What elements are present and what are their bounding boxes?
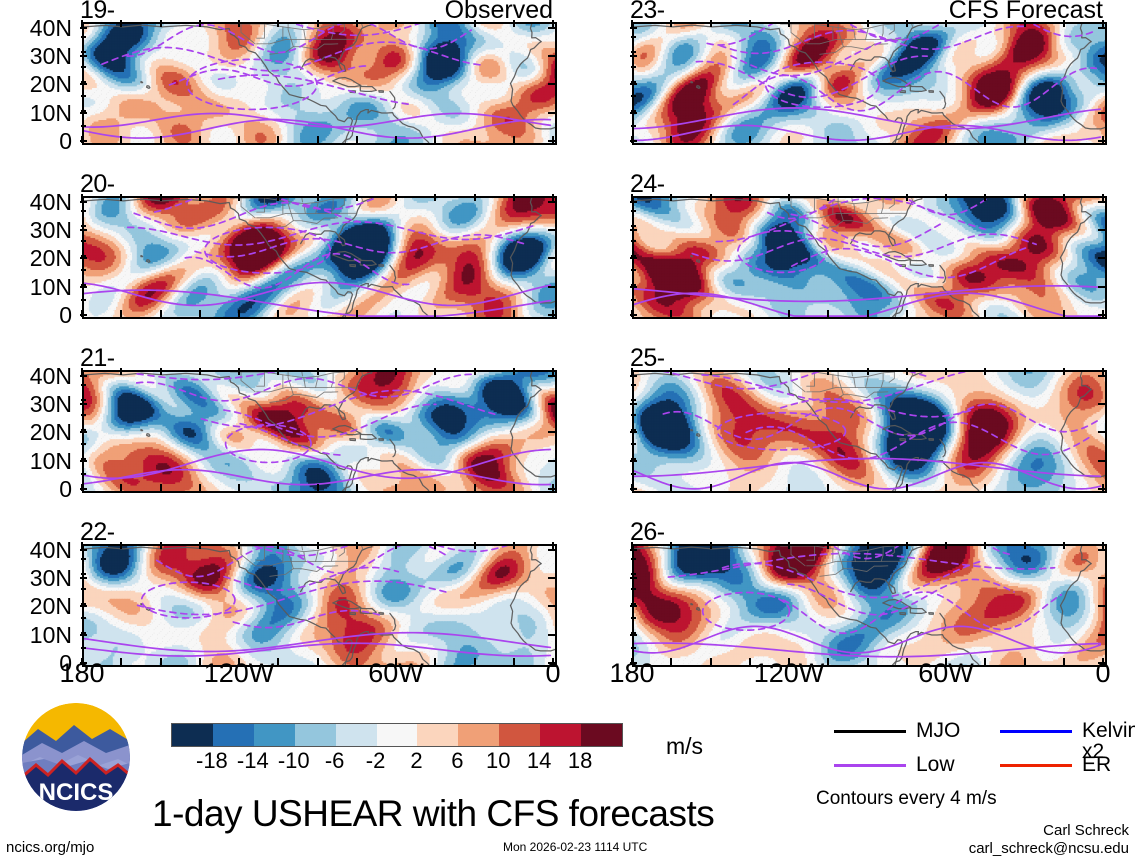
x-tick-top <box>120 542 122 549</box>
x-tick-top <box>1024 20 1026 27</box>
y-tick-minor-left <box>631 603 636 605</box>
x-tick-bottom <box>395 136 397 143</box>
y-tick-left <box>80 549 87 551</box>
legend-label: ER <box>1082 754 1111 775</box>
x-tick-top <box>1024 194 1026 201</box>
y-tick-right <box>548 549 555 551</box>
map-plot-area <box>82 196 557 319</box>
x-tick-top <box>434 542 436 549</box>
x-tick-bottom <box>434 310 436 317</box>
x-tick-top <box>867 368 869 375</box>
x-tick-bottom <box>984 310 986 317</box>
y-tick-right <box>548 403 555 405</box>
y-tick-right <box>1098 488 1105 490</box>
x-tick-top <box>395 542 397 549</box>
x-tick-bottom <box>906 136 908 143</box>
x-tick-bottom <box>317 310 319 317</box>
x-tick-top <box>317 368 319 375</box>
y-tick-minor-left <box>81 81 86 83</box>
y-tick-minor-left <box>631 588 636 590</box>
y-tick-minor-left <box>81 632 86 634</box>
y-tick-left <box>80 83 87 85</box>
ncics-logo: NCICS <box>22 703 130 811</box>
y-tick-minor-left <box>81 95 86 97</box>
x-tick-bottom <box>945 136 947 143</box>
y-axis-tick-label: 10N <box>0 450 72 473</box>
x-tick-bottom <box>749 484 751 491</box>
colorbar-swatch <box>540 724 581 746</box>
x-tick-bottom <box>1024 136 1026 143</box>
x-tick-top <box>474 542 476 549</box>
x-tick-top <box>356 20 358 27</box>
x-axis-tick-label: 180 <box>22 660 142 687</box>
x-tick-top <box>277 542 279 549</box>
x-tick-top <box>395 20 397 27</box>
y-tick-minor-left <box>81 225 86 227</box>
x-tick-top <box>160 20 162 27</box>
x-tick-top <box>1063 194 1065 201</box>
x-tick-bottom <box>474 658 476 665</box>
y-axis-tick-label: 40N <box>0 191 72 214</box>
x-tick-top <box>827 542 829 549</box>
map-plot-area <box>632 196 1107 319</box>
x-tick-top <box>238 542 240 549</box>
x-tick-bottom <box>710 310 712 317</box>
y-tick-left <box>630 314 637 316</box>
colorbar-swatch <box>581 724 622 746</box>
x-tick-top <box>1063 368 1065 375</box>
y-tick-right <box>548 27 555 29</box>
x-tick-top <box>710 542 712 549</box>
x-tick-bottom <box>356 484 358 491</box>
y-tick-right <box>548 431 555 433</box>
y-tick-minor-left <box>631 225 636 227</box>
y-tick-left <box>80 140 87 142</box>
x-tick-top <box>670 542 672 549</box>
y-axis-tick-label: 20N <box>0 595 72 618</box>
x-axis-tick-label: 120W <box>729 660 849 687</box>
map-plot-area <box>632 370 1107 493</box>
x-tick-top <box>238 194 240 201</box>
x-tick-top <box>356 368 358 375</box>
y-tick-right <box>1098 201 1105 203</box>
x-tick-bottom <box>160 310 162 317</box>
x-tick-bottom <box>1024 484 1026 491</box>
x-tick-bottom <box>199 484 201 491</box>
x-tick-bottom <box>984 484 986 491</box>
map-plot-area <box>632 22 1107 145</box>
x-tick-bottom <box>199 136 201 143</box>
colorbar-swatch <box>254 724 295 746</box>
y-tick-left <box>80 55 87 57</box>
y-tick-left <box>630 403 637 405</box>
map-shading-canvas <box>84 546 555 665</box>
y-tick-left <box>630 549 637 551</box>
y-tick-right <box>1098 549 1105 551</box>
x-tick-top <box>317 194 319 201</box>
y-tick-right <box>548 314 555 316</box>
legend-label: MJO <box>916 720 960 741</box>
x-tick-top <box>434 368 436 375</box>
x-tick-top <box>120 20 122 27</box>
x-tick-top <box>788 194 790 201</box>
x-tick-bottom <box>160 136 162 143</box>
map-shading-canvas <box>634 546 1105 665</box>
x-tick-bottom <box>788 484 790 491</box>
y-tick-right <box>1098 375 1105 377</box>
x-tick-bottom <box>277 484 279 491</box>
y-tick-minor-left <box>631 384 636 386</box>
y-tick-right <box>548 83 555 85</box>
x-tick-bottom <box>749 310 751 317</box>
y-tick-minor-left <box>631 269 636 271</box>
y-tick-left <box>630 488 637 490</box>
y-tick-minor-left <box>631 284 636 286</box>
x-tick-bottom <box>120 136 122 143</box>
y-axis-tick-label: 0 <box>0 304 72 327</box>
x-tick-bottom <box>277 136 279 143</box>
y-tick-right <box>548 488 555 490</box>
x-tick-bottom <box>513 484 515 491</box>
x-tick-bottom <box>160 658 162 665</box>
x-tick-bottom <box>984 136 986 143</box>
y-tick-right <box>1098 83 1105 85</box>
ncics-logo-graphic: NCICS <box>22 703 130 811</box>
x-tick-bottom <box>867 484 869 491</box>
x-tick-top <box>945 20 947 27</box>
y-tick-right <box>1098 229 1105 231</box>
x-tick-top <box>749 368 751 375</box>
y-tick-minor-left <box>631 36 636 38</box>
y-tick-right <box>1098 460 1105 462</box>
x-tick-top <box>160 368 162 375</box>
x-tick-bottom <box>1063 310 1065 317</box>
x-tick-bottom <box>1063 484 1065 491</box>
y-axis-tick-label: 20N <box>0 421 72 444</box>
y-tick-minor-left <box>81 458 86 460</box>
x-tick-top <box>474 194 476 201</box>
y-axis-tick-label: 20N <box>0 247 72 270</box>
y-tick-right <box>1098 314 1105 316</box>
y-tick-left <box>80 257 87 259</box>
x-tick-bottom <box>670 484 672 491</box>
x-tick-top <box>945 368 947 375</box>
y-tick-right <box>548 375 555 377</box>
y-tick-minor-left <box>81 473 86 475</box>
x-tick-top <box>984 20 986 27</box>
x-tick-top <box>395 194 397 201</box>
x-tick-bottom <box>356 310 358 317</box>
x-tick-top <box>317 542 319 549</box>
y-tick-right <box>548 460 555 462</box>
y-tick-minor-left <box>631 617 636 619</box>
y-tick-right <box>1098 286 1105 288</box>
x-tick-bottom <box>356 136 358 143</box>
colorbar-swatch <box>499 724 540 746</box>
y-axis-tick-label: 40N <box>0 365 72 388</box>
x-tick-bottom <box>827 136 829 143</box>
x-tick-top <box>827 194 829 201</box>
x-tick-bottom <box>434 484 436 491</box>
y-tick-minor-left <box>631 51 636 53</box>
y-axis-tick-label: 10N <box>0 276 72 299</box>
author-email[interactable]: carl_schreck@ncsu.edu <box>929 840 1129 857</box>
x-tick-bottom <box>1063 136 1065 143</box>
x-tick-top <box>906 20 908 27</box>
x-tick-top <box>277 194 279 201</box>
y-tick-left <box>630 375 637 377</box>
x-tick-bottom <box>513 310 515 317</box>
x-tick-bottom <box>238 310 240 317</box>
y-tick-minor-left <box>631 632 636 634</box>
x-tick-top <box>356 194 358 201</box>
x-tick-top <box>788 20 790 27</box>
colorbar-swatch <box>172 724 213 746</box>
x-tick-top <box>906 194 908 201</box>
x-tick-top <box>1024 368 1026 375</box>
y-tick-right <box>1098 634 1105 636</box>
x-tick-top <box>199 542 201 549</box>
x-tick-top <box>788 368 790 375</box>
x-tick-top <box>867 194 869 201</box>
y-tick-minor-left <box>81 603 86 605</box>
y-tick-minor-left <box>631 414 636 416</box>
legend-line-swatch <box>1000 730 1072 733</box>
x-tick-top <box>395 368 397 375</box>
y-tick-right <box>548 605 555 607</box>
site-url[interactable]: ncics.org/mjo <box>6 840 94 855</box>
x-tick-bottom <box>945 484 947 491</box>
x-tick-top <box>788 542 790 549</box>
y-axis-tick-label: 30N <box>0 393 72 416</box>
x-tick-top <box>906 368 908 375</box>
y-tick-left <box>80 375 87 377</box>
y-tick-left <box>630 257 637 259</box>
x-tick-bottom <box>434 136 436 143</box>
x-tick-top <box>356 542 358 549</box>
x-tick-bottom <box>827 484 829 491</box>
x-tick-top <box>867 20 869 27</box>
y-tick-minor-left <box>631 81 636 83</box>
y-tick-right <box>1098 577 1105 579</box>
x-tick-top <box>710 368 712 375</box>
x-tick-top <box>867 542 869 549</box>
y-tick-right <box>1098 112 1105 114</box>
x-tick-top <box>749 20 751 27</box>
x-tick-top <box>827 368 829 375</box>
y-axis-tick-label: 40N <box>0 539 72 562</box>
map-shading-canvas <box>84 24 555 143</box>
map-plot-area <box>632 544 1107 667</box>
x-axis-tick-label: 60W <box>336 660 456 687</box>
x-tick-bottom <box>474 310 476 317</box>
y-axis-tick-label: 0 <box>0 130 72 153</box>
y-tick-left <box>80 605 87 607</box>
x-tick-top <box>710 20 712 27</box>
x-tick-top <box>984 542 986 549</box>
y-tick-minor-left <box>631 647 636 649</box>
logo-text: NCICS <box>39 779 114 806</box>
y-axis-tick-label: 30N <box>0 219 72 242</box>
y-tick-right <box>1098 403 1105 405</box>
x-tick-top <box>120 194 122 201</box>
y-tick-right <box>1098 140 1105 142</box>
x-tick-bottom <box>788 136 790 143</box>
x-tick-top <box>474 368 476 375</box>
x-tick-top <box>670 368 672 375</box>
map-shading-canvas <box>634 372 1105 491</box>
x-tick-top <box>199 368 201 375</box>
y-tick-minor-left <box>81 617 86 619</box>
y-tick-right <box>1098 431 1105 433</box>
x-tick-bottom <box>160 484 162 491</box>
legend-line-swatch <box>834 730 906 733</box>
y-tick-minor-left <box>81 429 86 431</box>
y-tick-minor-left <box>631 429 636 431</box>
colorbar-swatch <box>377 724 418 746</box>
x-tick-top <box>827 20 829 27</box>
y-axis-tick-label: 30N <box>0 45 72 68</box>
x-tick-bottom <box>710 136 712 143</box>
y-tick-left <box>80 403 87 405</box>
contour-interval-note: Contours every 4 m/s <box>816 789 997 808</box>
y-tick-minor-left <box>631 210 636 212</box>
y-axis-tick-label: 40N <box>0 17 72 40</box>
x-tick-top <box>238 368 240 375</box>
x-tick-top <box>749 542 751 549</box>
x-tick-bottom <box>277 310 279 317</box>
x-tick-bottom <box>317 658 319 665</box>
x-tick-bottom <box>1024 310 1026 317</box>
x-tick-top <box>945 194 947 201</box>
x-axis-tick-label: 180 <box>572 660 692 687</box>
y-tick-right <box>548 634 555 636</box>
y-axis-tick-label: 10N <box>0 102 72 125</box>
y-tick-minor-left <box>631 255 636 257</box>
y-tick-minor-left <box>81 36 86 38</box>
y-tick-left <box>80 27 87 29</box>
y-axis-tick-label: 30N <box>0 567 72 590</box>
x-tick-top <box>513 20 515 27</box>
y-tick-minor-left <box>81 66 86 68</box>
y-tick-left <box>630 83 637 85</box>
y-tick-minor-left <box>81 384 86 386</box>
x-tick-top <box>434 20 436 27</box>
y-tick-minor-left <box>81 269 86 271</box>
y-tick-left <box>80 314 87 316</box>
y-tick-minor-left <box>631 95 636 97</box>
x-axis-tick-label: 60W <box>886 660 1006 687</box>
y-tick-right <box>1098 27 1105 29</box>
y-tick-right <box>548 112 555 114</box>
x-tick-bottom <box>513 136 515 143</box>
y-tick-left <box>630 27 637 29</box>
y-tick-minor-left <box>81 51 86 53</box>
y-tick-minor-left <box>631 558 636 560</box>
map-plot-area <box>82 22 557 145</box>
x-tick-bottom <box>317 136 319 143</box>
x-axis-tick-label: 120W <box>179 660 299 687</box>
y-tick-minor-left <box>81 558 86 560</box>
y-tick-minor-left <box>631 458 636 460</box>
y-tick-minor-left <box>631 240 636 242</box>
y-tick-minor-left <box>81 255 86 257</box>
legend-line-swatch <box>834 764 906 767</box>
y-tick-right <box>1098 605 1105 607</box>
y-tick-left <box>630 201 637 203</box>
x-tick-bottom <box>1024 658 1026 665</box>
x-tick-top <box>513 542 515 549</box>
y-tick-minor-left <box>81 284 86 286</box>
x-tick-bottom <box>395 310 397 317</box>
colorbar-swatch <box>458 724 499 746</box>
y-tick-right <box>548 577 555 579</box>
y-tick-minor-left <box>81 443 86 445</box>
x-tick-bottom <box>120 484 122 491</box>
x-tick-bottom <box>906 310 908 317</box>
y-axis-tick-label: 20N <box>0 73 72 96</box>
y-tick-left <box>630 55 637 57</box>
author-name: Carl Schreck <box>929 822 1129 839</box>
x-tick-top <box>277 20 279 27</box>
x-tick-bottom <box>710 484 712 491</box>
y-tick-right <box>548 229 555 231</box>
map-shading-canvas <box>84 198 555 317</box>
x-tick-bottom <box>120 310 122 317</box>
colorbar-swatch <box>417 724 458 746</box>
y-tick-left <box>630 431 637 433</box>
y-tick-minor-left <box>631 299 636 301</box>
y-tick-left <box>80 201 87 203</box>
x-tick-bottom <box>867 310 869 317</box>
x-tick-top <box>513 368 515 375</box>
x-tick-bottom <box>867 136 869 143</box>
y-tick-minor-left <box>81 573 86 575</box>
map-plot-area <box>82 544 557 667</box>
y-tick-right <box>1098 257 1105 259</box>
y-tick-minor-left <box>631 573 636 575</box>
y-tick-minor-left <box>81 299 86 301</box>
y-tick-minor-left <box>631 399 636 401</box>
y-tick-minor-left <box>81 125 86 127</box>
legend-label: Low <box>916 754 955 775</box>
x-tick-top <box>1024 542 1026 549</box>
colorbar-tick-label: 18 <box>550 750 610 772</box>
x-tick-top <box>984 194 986 201</box>
map-shading-canvas <box>634 198 1105 317</box>
y-tick-left <box>630 577 637 579</box>
y-tick-right <box>1098 55 1105 57</box>
colorbar <box>171 723 623 747</box>
x-tick-bottom <box>670 136 672 143</box>
y-tick-right <box>548 140 555 142</box>
y-tick-left <box>630 140 637 142</box>
y-tick-left <box>630 229 637 231</box>
y-tick-minor-left <box>81 588 86 590</box>
x-tick-top <box>906 542 908 549</box>
legend-line-swatch <box>1000 764 1072 767</box>
y-tick-right <box>548 201 555 203</box>
y-tick-left <box>80 229 87 231</box>
x-tick-top <box>670 20 672 27</box>
x-tick-bottom <box>395 484 397 491</box>
y-tick-left <box>80 431 87 433</box>
x-tick-bottom <box>238 484 240 491</box>
x-tick-top <box>945 542 947 549</box>
y-tick-minor-left <box>81 210 86 212</box>
y-tick-right <box>548 286 555 288</box>
colorbar-swatch <box>336 724 377 746</box>
